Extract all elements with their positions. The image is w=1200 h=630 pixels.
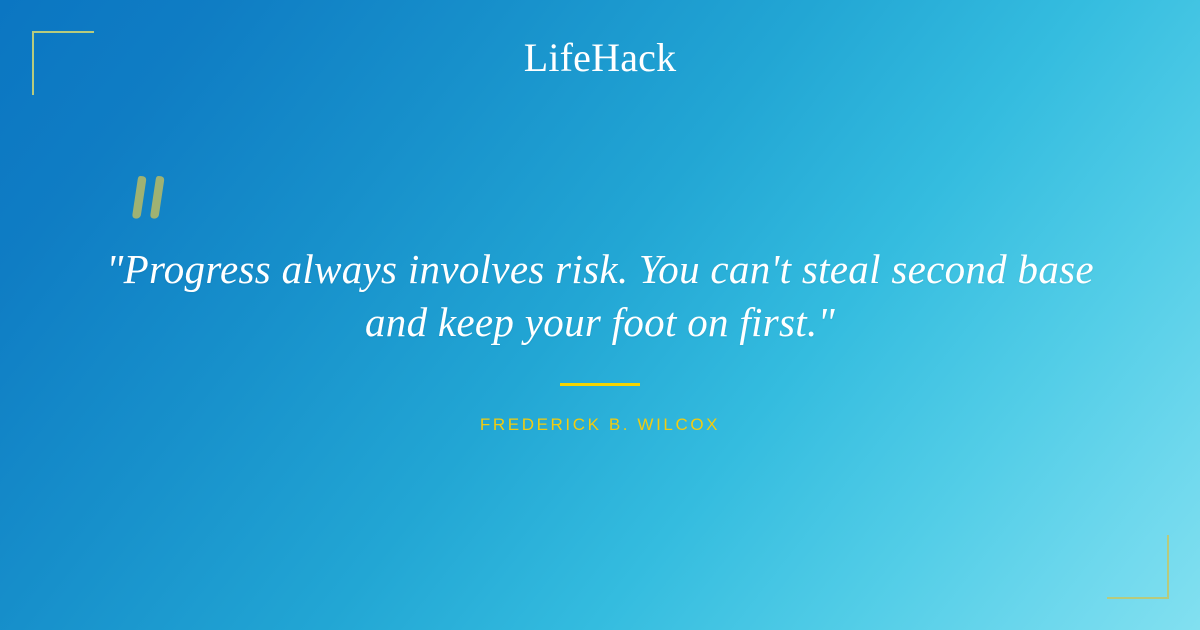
quote-author: FREDERICK B. WILCOX	[0, 414, 1200, 436]
bracket-horizontal-arm	[32, 31, 94, 33]
divider	[560, 383, 640, 386]
quote-line-2: and keep your foot on first."	[100, 296, 1100, 349]
corner-bracket-bottom-right-icon	[1107, 535, 1169, 599]
bracket-horizontal-arm	[1107, 597, 1169, 599]
quote-line-1: "Progress always involves risk. You can'…	[100, 243, 1100, 296]
quote-text: "Progress always involves risk. You can'…	[100, 243, 1100, 349]
quote-card: LifeHack "Progress always involves risk.…	[0, 0, 1200, 630]
bracket-vertical-arm	[1167, 535, 1169, 599]
brand-logo: LifeHack	[0, 38, 1200, 78]
quotation-mark-icon	[127, 174, 187, 226]
